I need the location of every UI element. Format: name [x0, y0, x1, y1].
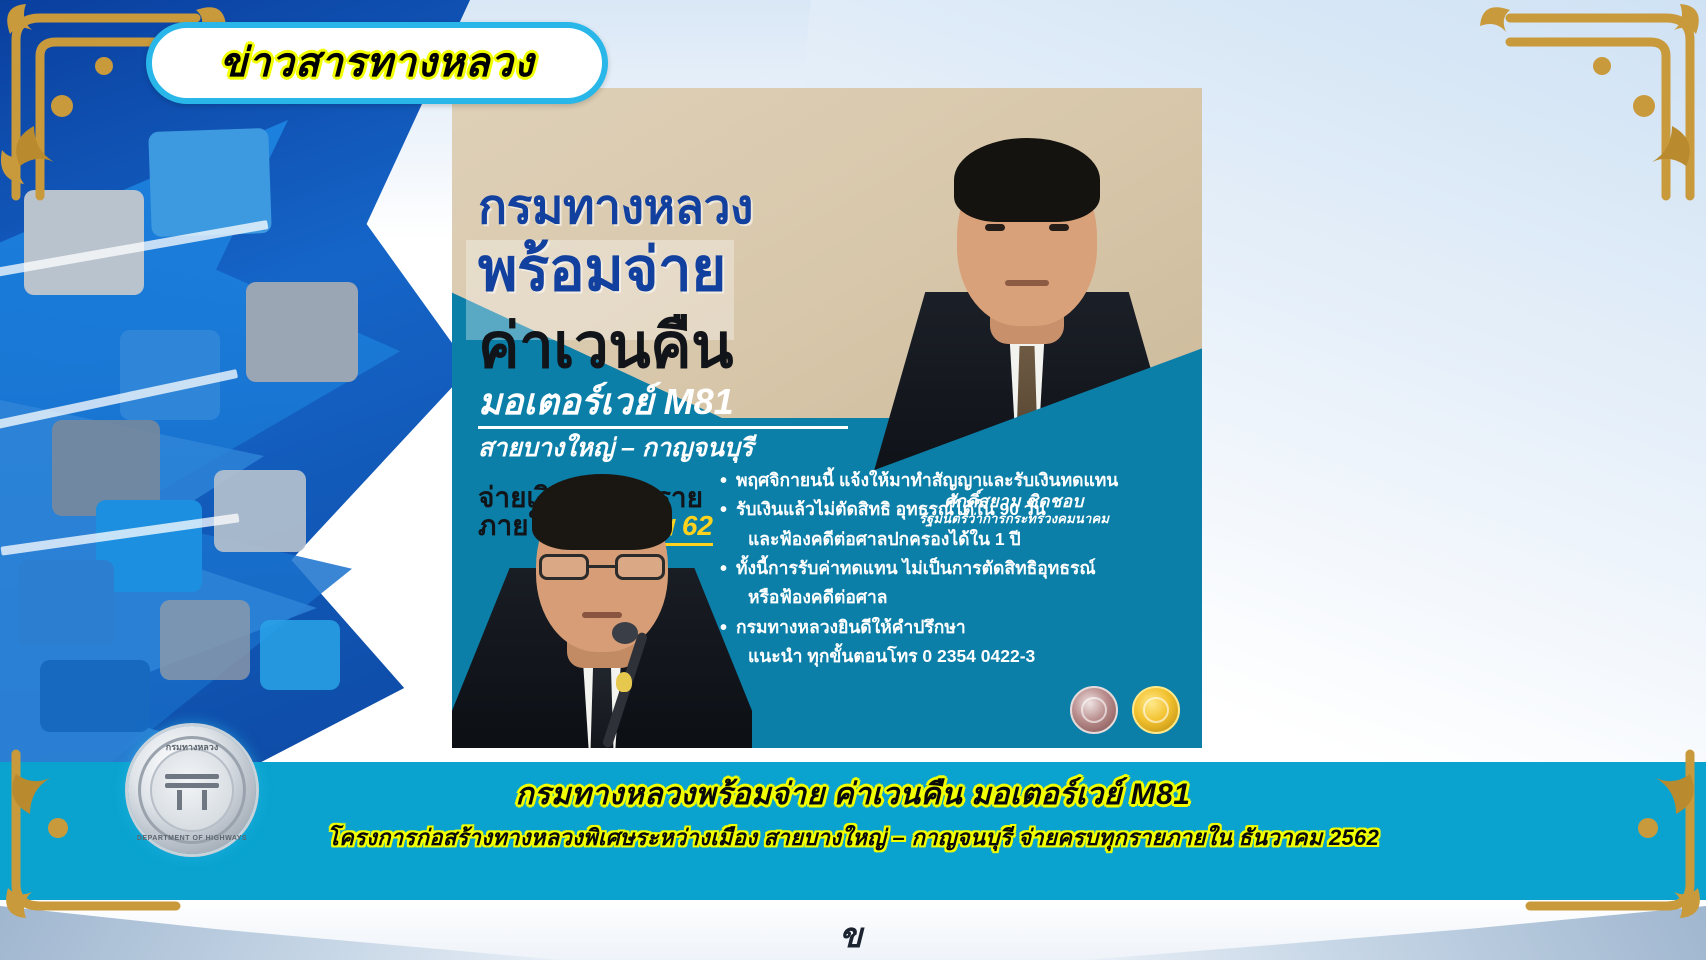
royal-emblem-gold-icon	[1132, 686, 1180, 734]
poster-subhead-rule	[478, 426, 848, 429]
doh-seal-top-label: กรมทางหลวง	[128, 740, 256, 754]
decor-square	[148, 128, 272, 237]
microphone-head	[612, 622, 638, 644]
decor-square	[24, 190, 144, 295]
speaker-mouth	[582, 612, 622, 618]
minister-eye-right	[1049, 224, 1069, 231]
doh-seal-icon: กรมทางหลวง DEPARTMENT OF HIGHWAYS	[128, 726, 256, 854]
decor-square	[246, 282, 358, 382]
bottom-strip-wave-left	[0, 900, 560, 960]
bottom-strip-mark: ข	[839, 908, 862, 960]
minister-mouth	[1005, 280, 1049, 286]
speaker-photo	[452, 454, 752, 748]
decor-square	[214, 470, 306, 552]
list-item: พฤศจิกายนนี้ แจ้งให้มาทำสัญญาและรับเงินท…	[720, 466, 1182, 494]
bottom-banner: กรมทางหลวงพร้อมจ่าย ค่าเวนคืน มอเตอร์เวย…	[0, 762, 1706, 900]
news-banner: ข่าวสารทางหลวง	[146, 22, 608, 104]
list-item: หรือฟ้องคดีต่อศาล	[720, 583, 1182, 611]
speaker-lapel-pin	[616, 672, 632, 692]
poster-headline-3: ค่าเวนคืน	[478, 316, 733, 378]
speaker-hair	[532, 474, 672, 550]
doh-seal-bottom-label: DEPARTMENT OF HIGHWAYS	[128, 835, 256, 842]
list-item: และฟ้องคดีต่อศาลปกครองได้ใน 1 ปี	[720, 525, 1182, 553]
poster-headline-1: กรมทางหลวง	[478, 184, 753, 232]
decor-square	[40, 660, 150, 732]
royal-emblem-silver-icon	[1070, 686, 1118, 734]
poster-bullet-list: พฤศจิกายนนี้ แจ้งให้มาทำสัญญาและรับเงินท…	[720, 466, 1182, 671]
list-item: รับเงินแล้วไม่ตัดสิทธิ อุทธรณ์ได้ใน 90 ว…	[720, 495, 1182, 523]
doh-seal-glyph	[165, 770, 219, 810]
bottom-strip-wave-right	[1086, 900, 1706, 960]
bottom-banner-line-1: กรมทางหลวงพร้อมจ่าย ค่าเวนคืน มอเตอร์เวย…	[0, 776, 1706, 814]
emblem-group	[1070, 686, 1180, 734]
speaker-glasses	[539, 554, 665, 580]
list-item: แนะนำ ทุกขั้นตอนโทร 0 2354 0422-3	[720, 642, 1182, 670]
minister-hair	[954, 138, 1100, 222]
bottom-strip: ข	[0, 900, 1706, 960]
decor-square	[160, 600, 250, 680]
poster-subhead-motorway: มอเตอร์เวย์ M81	[478, 384, 734, 420]
poster-canvas: ข่าวสารทางหลวง ศักดิ์สยาม ชิดชอบ รัฐมนตร…	[0, 0, 1706, 960]
list-item: ทั้งนี้การรับค่าทดแทน ไม่เป็นการตัดสิทธิ…	[720, 554, 1182, 582]
decor-square	[18, 560, 114, 646]
list-item: กรมทางหลวงยินดีให้คำปรึกษา	[720, 613, 1182, 641]
minister-eye-left	[985, 224, 1005, 231]
poster-card: ศักดิ์สยาม ชิดชอบ รัฐมนตรีว่าการกระทรวงค…	[452, 88, 1202, 748]
poster-headline-2: พร้อมจ่าย	[478, 240, 726, 300]
decor-square	[260, 620, 340, 690]
news-banner-text: ข่าวสารทางหลวง	[220, 43, 535, 83]
